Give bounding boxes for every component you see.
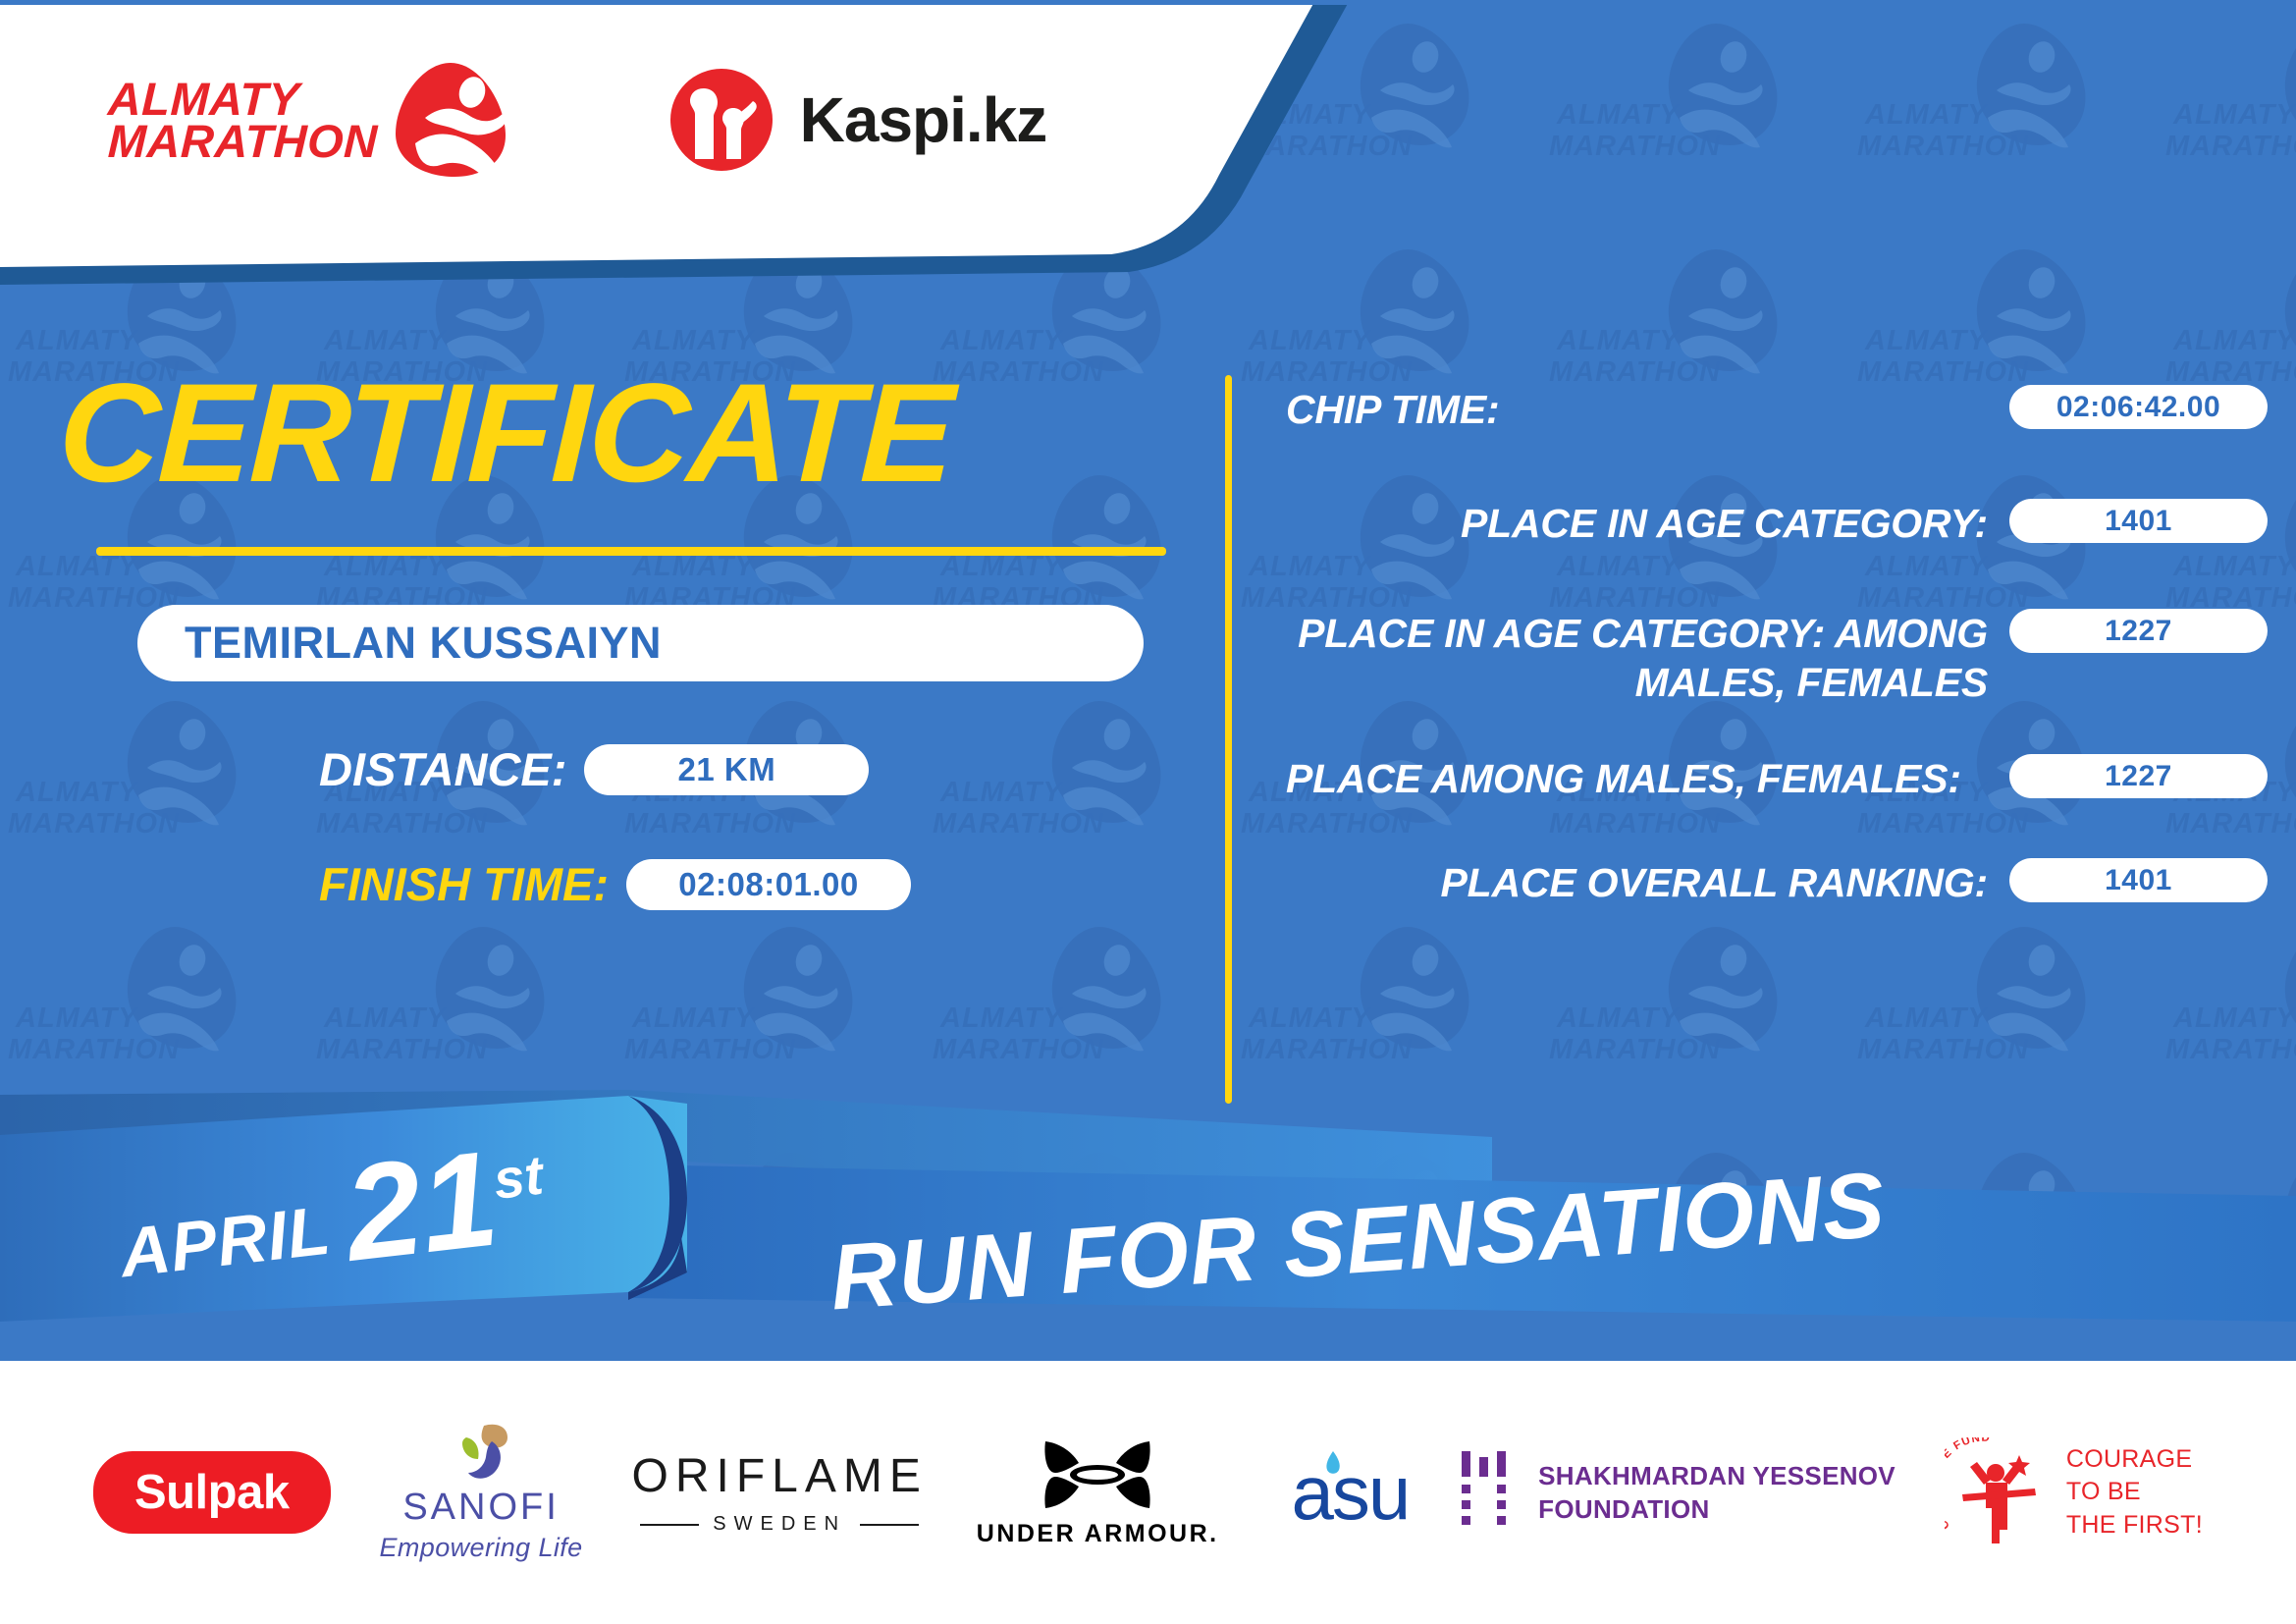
certificate-stats-column: CHIP TIME: 02:06:42.00 PLACE IN AGE CATE… [1286,383,2268,962]
stat-row-place-overall: PLACE OVERALL RANKING: 1401 [1286,856,2268,915]
oriflame-wordmark: ORIFLAME [632,1449,928,1503]
place-among-gender-value: 1227 [2105,760,2172,793]
kaspi-logo: Kaspi.kz [668,67,1047,173]
sponsor-courage-fund: CORPORATE FUND COURAGE TO BE THE FIRST! [1945,1437,2203,1547]
finish-time-value-pill: 02:08:01.00 [626,859,911,910]
almaty-marathon-logo: ALMATY MARATHON [108,57,511,183]
oriflame-sub-label: SWEDEN [713,1513,846,1536]
page-title: CERTIFICATE [57,363,1210,504]
sponsor-sulpak: Sulpak [93,1451,331,1534]
finish-time-value: 02:08:01.00 [678,866,858,903]
under-armour-wordmark: UNDER ARMOUR. [977,1520,1219,1548]
almaty-marathon-line1: ALMATY [107,78,378,120]
runner-drop-icon [386,57,511,183]
almaty-marathon-wordmark: ALMATY MARATHON [108,78,378,162]
under-armour-icon [1036,1437,1159,1512]
place-age-category-gender-value: 1227 [2105,615,2172,648]
chip-time-value-pill: 02:06:42.00 [2009,385,2268,429]
oriflame-sub-wrap: SWEDEN [640,1513,919,1536]
yessenov-line2: FOUNDATION [1538,1492,1896,1526]
vertical-divider [1225,375,1232,1104]
kaspi-wordmark: Kaspi.kz [800,83,1047,156]
courage-runner-icon: CORPORATE FUND [1945,1437,2051,1547]
place-among-gender-value-pill: 1227 [2009,754,2268,798]
athlete-name-field: TEMIRLAN KUSSAIYN [137,605,1144,681]
sanofi-mark-icon [445,1422,517,1483]
distance-label: DISTANCE: [319,742,566,796]
place-among-gender-label: PLACE AMONG MALES, FEMALES: [1286,752,2009,803]
sanofi-tagline: Empowering Life [380,1533,583,1563]
asu-wordmark: asu [1292,1448,1410,1538]
finish-time-label: FINISH TIME: [319,857,609,911]
courage-line3: THE FIRST! [2066,1509,2203,1543]
header-logo-group: ALMATY MARATHON Kaspi.kz [108,57,1046,183]
sponsor-under-armour: UNDER ARMOUR. [977,1437,1219,1548]
stat-row-place-age-category: PLACE IN AGE CATEGORY: 1401 [1286,497,2268,556]
asu-droplet-icon [1319,1449,1343,1489]
place-overall-label: PLACE OVERALL RANKING: [1286,856,2009,907]
chip-time-value: 02:06:42.00 [2056,391,2220,424]
sponsor-footer: Sulpak SANOFI Empowering Life ORIFLAME S… [0,1361,2296,1624]
almaty-marathon-line2: MARATHON [107,120,378,162]
yessenov-bars-icon [1458,1449,1515,1536]
athlete-name-value: TEMIRLAN KUSSAIYN [185,618,662,669]
top-border-rule [0,0,2296,5]
courage-line2: TO BE [2066,1476,2203,1509]
stat-row-place-age-category-gender: PLACE IN AGE CATEGORY: AMONG MALES, FEMA… [1286,607,2268,707]
sponsor-oriflame: ORIFLAME SWEDEN [632,1449,928,1536]
event-day: 21 [340,1142,503,1272]
oriflame-rule-left [640,1524,699,1526]
event-month: APRIL [116,1190,335,1292]
sponsor-sanofi: SANOFI Empowering Life [380,1422,583,1563]
sponsor-asu: asu [1268,1448,1410,1538]
place-age-category-gender-label: PLACE IN AGE CATEGORY: AMONG MALES, FEMA… [1286,607,2009,707]
stat-row-chip-time: CHIP TIME: 02:06:42.00 [1286,383,2268,442]
event-day-suffix: st [491,1143,547,1212]
yessenov-wordmark: SHAKHMARDAN YESSENOV FOUNDATION [1538,1459,1896,1527]
sulpak-wordmark: Sulpak [134,1466,290,1519]
place-age-category-gender-value-pill: 1227 [2009,609,2268,653]
distance-value: 21 KM [678,751,776,788]
certificate-left-column: CERTIFICATE TEMIRLAN KUSSAIYN DISTANCE: … [49,363,1207,911]
place-overall-value: 1401 [2105,864,2172,897]
courage-line1: COURAGE [2066,1443,2203,1477]
place-overall-value-pill: 1401 [2009,858,2268,902]
finish-time-row: FINISH TIME: 02:08:01.00 [319,857,1207,911]
sulpak-logo: Sulpak [93,1451,331,1534]
place-age-category-value-pill: 1401 [2009,499,2268,543]
sanofi-wordmark: SANOFI [402,1487,559,1529]
courage-wordmark: COURAGE TO BE THE FIRST! [2066,1443,2203,1543]
place-age-category-value: 1401 [2105,505,2172,538]
place-age-category-label: PLACE IN AGE CATEGORY: [1286,497,2009,548]
chip-time-label: CHIP TIME: [1286,383,2009,434]
certificate-canvas: ALMATY MARATHON ALMATY MARATHON [0,0,2296,1624]
stat-row-place-among-gender: PLACE AMONG MALES, FEMALES: 1227 [1286,752,2268,811]
oriflame-rule-right [860,1524,919,1526]
yessenov-line1: SHAKHMARDAN YESSENOV [1538,1459,1896,1492]
kaspi-people-circle-icon [668,67,774,173]
sponsor-yessenov-foundation: SHAKHMARDAN YESSENOV FOUNDATION [1458,1449,1896,1536]
title-underline-rule [96,547,1166,556]
distance-value-pill: 21 KM [584,744,869,795]
distance-row: DISTANCE: 21 KM [319,742,1207,796]
